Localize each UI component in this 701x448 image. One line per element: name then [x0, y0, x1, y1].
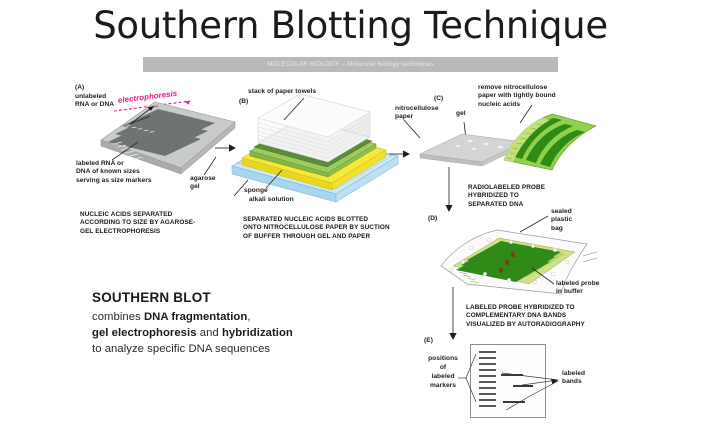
panel-d-probe-leader — [528, 266, 558, 288]
page-title: Southern Blotting Technique — [0, 4, 701, 47]
summary-line-3: to analyze specific DNA sequences — [92, 341, 362, 357]
panel-c-membrane-illustration — [400, 100, 600, 170]
panel-e-markers-bracket — [462, 352, 478, 408]
panel-e-id: (E) — [424, 337, 433, 345]
panel-d-caption: LABELED PROBE HYBRIDIZED TO COMPLEMENTAR… — [466, 304, 585, 329]
panel-d-id: (D) — [428, 215, 437, 223]
panel-c-caption: RADIOLABELED PROBE HYBRIDIZED TO SEPARAT… — [468, 184, 545, 209]
subtitle-bar: MOLECULAR BIOLOGY – Molecular biology te… — [143, 57, 558, 72]
panel-b-caption: SEPARATED NUCLEIC ACIDS BLOTTED ONTO NIT… — [243, 216, 390, 241]
subtitle-text: MOLECULAR BIOLOGY – Molecular biology te… — [143, 57, 558, 72]
panel-e-markers-label: positions of labeled markers — [421, 355, 465, 391]
panel-b-blot-stack-illustration — [228, 96, 403, 201]
panel-a-caption: NUCLEIC ACIDS SEPARATED ACCORDING TO SIZ… — [80, 211, 195, 236]
panel-e-bands-leaders — [500, 370, 566, 416]
summary-line1-c: , — [247, 311, 250, 323]
summary-line-2: gel electrophoresis and hybridization — [92, 325, 362, 341]
summary-line1-b: DNA fragmentation — [144, 311, 247, 323]
arrow-c-to-d — [443, 166, 455, 214]
summary-line-1: combines DNA fragmentation, — [92, 309, 362, 325]
panel-b-alkali-label: alkali solution — [249, 196, 294, 204]
southern-blot-summary: SOUTHERN BLOT combines DNA fragmentation… — [92, 290, 362, 357]
summary-line2-a: gel electrophoresis — [92, 327, 197, 339]
panel-a-agarose-label: agarose gel — [190, 175, 216, 192]
panel-b-sponge-leader — [262, 168, 288, 190]
panel-a-markers-leader — [108, 138, 144, 162]
summary-line2-b: and — [197, 327, 222, 339]
summary-heading: SOUTHERN BLOT — [92, 290, 362, 305]
panel-a-id: (A) — [75, 84, 84, 92]
panel-b-towels-leader — [280, 96, 312, 122]
arrow-d-to-e — [447, 286, 459, 342]
panel-a-agarose-leader — [196, 155, 222, 177]
diagram-canvas: Southern Blotting Technique MOLECULAR BI… — [0, 0, 701, 448]
panel-a-markers-label: labeled RNA or DNA of known sizes servin… — [76, 160, 152, 185]
panel-b-alkali-leader — [232, 176, 254, 198]
panel-d-bag-leader — [516, 214, 552, 236]
summary-line1-a: combines — [92, 311, 144, 323]
panel-d-probe-label: labeled probe in buffer — [556, 280, 600, 297]
summary-line2-c: hybridization — [222, 327, 293, 339]
panel-a-unlabeled-leader — [128, 104, 168, 128]
